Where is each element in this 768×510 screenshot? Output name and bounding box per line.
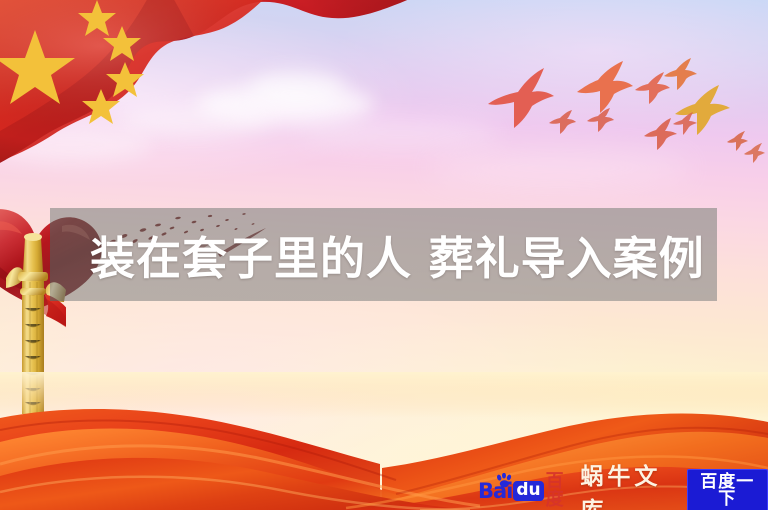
site-brand-label: 蜗牛文库 bbox=[580, 457, 675, 510]
flying-doves bbox=[470, 46, 768, 166]
footer-watermark: Bai du 百度 蜗牛文库 百度一下 bbox=[478, 476, 768, 506]
baidu-logo[interactable]: Bai du 百度 bbox=[478, 479, 569, 503]
baidu-search-button[interactable]: 百度一下 bbox=[687, 469, 768, 510]
banner-image: 装在套子里的人 葬礼导入案例 Bai du 百度 蜗牛文库 百度一下 bbox=[0, 0, 768, 510]
paw-print-icon bbox=[496, 473, 514, 488]
page-title: 装在套子里的人 葬礼导入案例 bbox=[50, 208, 717, 301]
baidu-logo-cn: 百度 bbox=[546, 473, 570, 509]
chinese-national-flag bbox=[0, 0, 430, 189]
baidu-logo-du: du bbox=[513, 481, 543, 501]
